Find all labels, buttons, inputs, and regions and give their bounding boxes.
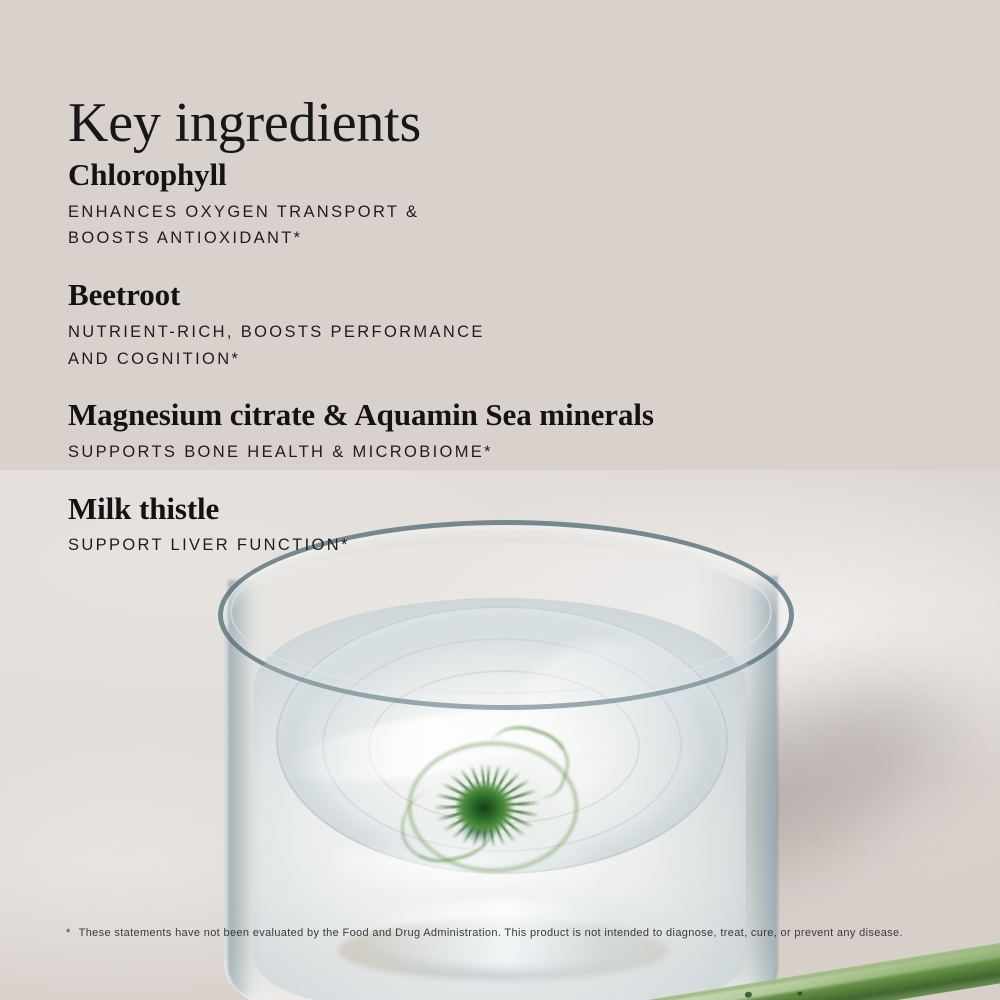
ingredient-description: Enhances oxygen transport & boosts antio… — [68, 199, 498, 252]
ingredient-item-chlorophyll: Chlorophyll Enhances oxygen transport & … — [68, 158, 948, 252]
ingredient-item-magnesium-citrate-aquamin: Magnesium citrate & Aquamin Sea minerals… — [68, 398, 948, 465]
ingredient-description: Supports bone health & microbiome* — [68, 439, 948, 466]
ingredient-name: Magnesium citrate & Aquamin Sea minerals — [68, 398, 948, 433]
page-title: Key ingredients — [68, 95, 421, 151]
ingredient-name: Beetroot — [68, 278, 948, 313]
chlorophyll-core — [456, 780, 518, 836]
disclaimer-text: These statements have not been evaluated… — [79, 925, 929, 942]
product-ingredients-panel: Key ingredients Chlorophyll Enhances oxy… — [0, 0, 1000, 1000]
ingredient-item-beetroot: Beetroot Nutrient-rich, boosts performan… — [68, 278, 948, 372]
legal-disclaimer: * These statements have not been evaluat… — [66, 925, 946, 942]
ingredient-name: Milk thistle — [68, 492, 948, 527]
ingredient-description: Nutrient-rich, boosts performance and co… — [68, 319, 498, 372]
ingredient-item-milk-thistle: Milk thistle Support liver function* — [68, 492, 948, 559]
ingredient-description: Support liver function* — [68, 532, 498, 559]
chlorophyll-swirl — [400, 728, 596, 878]
ingredient-name: Chlorophyll — [68, 158, 948, 193]
ingredient-list: Chlorophyll Enhances oxygen transport & … — [68, 158, 948, 585]
disclaimer-asterisk: * — [66, 925, 71, 942]
